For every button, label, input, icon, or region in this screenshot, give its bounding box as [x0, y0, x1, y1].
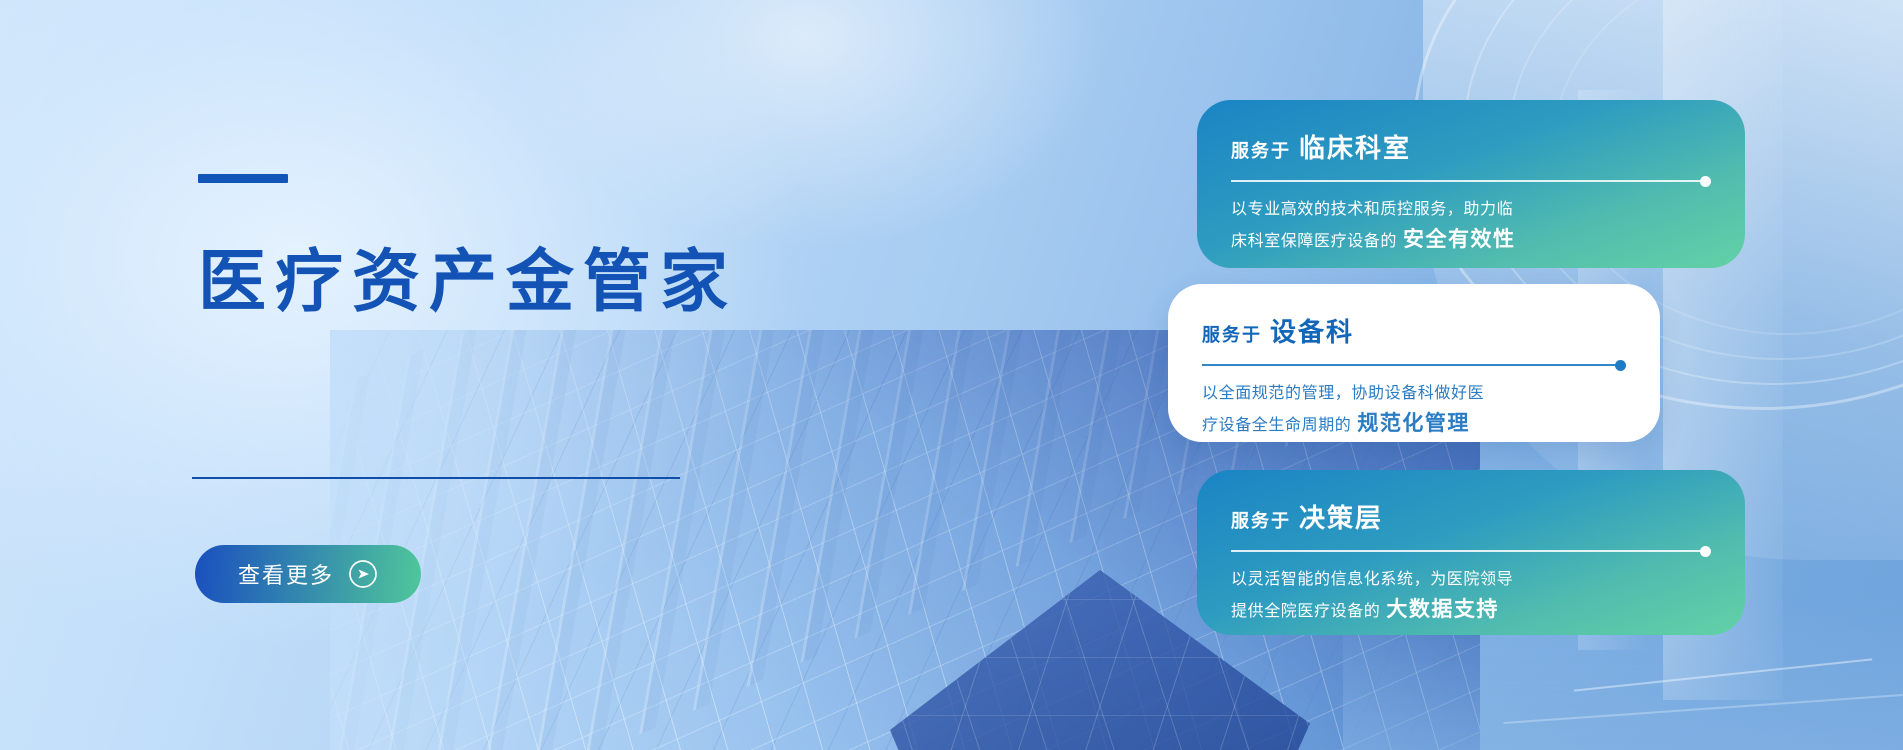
card-description-line2: 提供全院医疗设备的大数据支持 [1231, 593, 1711, 627]
service-card-equipment-department[interactable]: 服务于设备科 以全面规范的管理，协助设备科做好医 疗设备全生命周期的规范化管理 [1168, 284, 1660, 442]
card-title: 服务于临床科室 [1231, 128, 1711, 165]
separator-dot-icon [1700, 176, 1711, 187]
card-description-line2: 疗设备全生命周期的规范化管理 [1202, 407, 1626, 441]
card-title-prefix: 服务于 [1231, 141, 1291, 161]
service-card-list: 服务于临床科室 以专业高效的技术和质控服务，助力临 床科室保障医疗设备的安全有效… [0, 0, 1903, 750]
separator-dot-icon [1615, 360, 1626, 371]
card-title-prefix: 服务于 [1231, 511, 1291, 531]
card-description-lead: 提供全院医疗设备的 [1231, 603, 1380, 620]
separator-line [1231, 550, 1702, 552]
card-title-key: 临床科室 [1299, 133, 1411, 163]
card-description-line2: 床科室保障医疗设备的安全有效性 [1231, 223, 1711, 257]
separator-line [1231, 180, 1702, 182]
card-description-lead: 疗设备全生命周期的 [1202, 417, 1351, 434]
card-description: 以全面规范的管理，协助设备科做好医 疗设备全生命周期的规范化管理 [1202, 381, 1626, 441]
card-title: 服务于设备科 [1202, 312, 1626, 349]
card-description: 以专业高效的技术和质控服务，助力临 床科室保障医疗设备的安全有效性 [1231, 197, 1711, 257]
card-title: 服务于决策层 [1231, 498, 1711, 535]
card-separator [1202, 360, 1626, 369]
card-title-prefix: 服务于 [1202, 325, 1262, 345]
card-description-line1: 以灵活智能的信息化系统，为医院领导 [1231, 567, 1711, 593]
card-description-line1: 以专业高效的技术和质控服务，助力临 [1231, 197, 1711, 223]
card-description-lead: 床科室保障医疗设备的 [1231, 233, 1397, 250]
card-separator [1231, 546, 1711, 555]
card-description-highlight: 安全有效性 [1403, 228, 1516, 251]
card-description-highlight: 大数据支持 [1386, 598, 1499, 621]
card-description: 以灵活智能的信息化系统，为医院领导 提供全院医疗设备的大数据支持 [1231, 567, 1711, 627]
separator-line [1202, 364, 1617, 366]
card-description-highlight: 规范化管理 [1357, 412, 1470, 435]
card-separator [1231, 176, 1711, 185]
card-title-key: 决策层 [1299, 503, 1383, 533]
service-card-decision-layer[interactable]: 服务于决策层 以灵活智能的信息化系统，为医院领导 提供全院医疗设备的大数据支持 [1197, 470, 1745, 635]
service-card-clinical-department[interactable]: 服务于临床科室 以专业高效的技术和质控服务，助力临 床科室保障医疗设备的安全有效… [1197, 100, 1745, 268]
banner-stage: 医疗资产金管家 查看更多 服务于临床科室 以专业高效的技术和质控服务，助力临 [0, 0, 1903, 750]
card-description-line1: 以全面规范的管理，协助设备科做好医 [1202, 381, 1626, 407]
separator-dot-icon [1700, 546, 1711, 557]
card-title-key: 设备科 [1270, 317, 1354, 347]
